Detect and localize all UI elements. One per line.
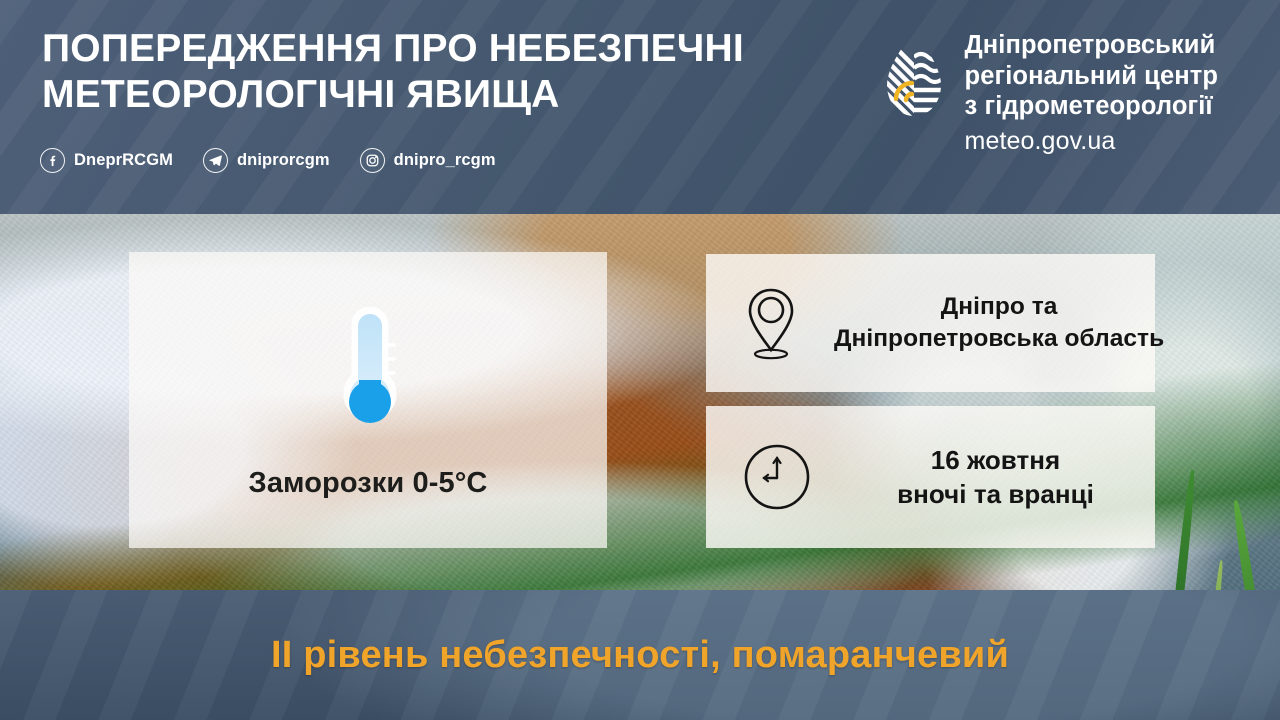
hazard-label: Заморозки 0-5°C <box>249 467 488 500</box>
location-text: Дніпро та Дніпропетровська область <box>834 291 1174 356</box>
water-drop-logo-icon <box>881 30 947 126</box>
datetime-line-1: 16 жовтня <box>846 443 1145 477</box>
social-handle-facebook: DneprRCGM <box>74 151 173 170</box>
social-link-facebook[interactable]: DneprRCGM <box>40 148 173 173</box>
organization-name: Дніпропетровський регіональний центр з г… <box>965 30 1218 157</box>
page-title-line-1: ПОПЕРЕДЖЕННЯ ПРО НЕБЕЗПЕЧНІ <box>42 26 832 72</box>
logo-line-3: з гідрометеорології <box>965 91 1218 122</box>
datetime-text: 16 жовтня вночі та вранці <box>846 443 1155 512</box>
social-link-telegram[interactable]: dniprorcgm <box>203 148 330 173</box>
social-handle-instagram: dnipro_rcgm <box>394 151 496 170</box>
location-card: Дніпро та Дніпропетровська область <box>706 254 1155 392</box>
location-line-1: Дніпро та <box>834 291 1164 323</box>
map-pin-icon <box>742 286 800 360</box>
danger-level-text: II рівень небезпечності, помаранчевий <box>271 634 1009 677</box>
clock-icon <box>742 442 812 512</box>
page-title-line-2: МЕТЕОРОЛОГІЧНІ ЯВИЩА <box>42 72 832 118</box>
logo-line-2: регіональний центр <box>965 61 1218 92</box>
thermometer-icon <box>325 301 411 441</box>
page-title: ПОПЕРЕДЖЕННЯ ПРО НЕБЕЗПЕЧНІ МЕТЕОРОЛОГІЧ… <box>42 26 832 117</box>
organization-logo-block: Дніпропетровський регіональний центр з г… <box>881 30 1218 157</box>
datetime-line-2: вночі та вранці <box>846 477 1145 511</box>
facebook-icon <box>40 148 65 173</box>
hazard-card: Заморозки 0-5°C <box>129 252 607 548</box>
telegram-icon <box>203 148 228 173</box>
header-band: ПОПЕРЕДЖЕННЯ ПРО НЕБЕЗПЕЧНІ МЕТЕОРОЛОГІЧ… <box>0 0 1280 214</box>
datetime-card: 16 жовтня вночі та вранці <box>706 406 1155 548</box>
logo-line-1: Дніпропетровський <box>965 30 1218 61</box>
logo-website: meteo.gov.ua <box>965 125 1218 158</box>
instagram-icon <box>360 148 385 173</box>
social-handle-telegram: dniprorcgm <box>237 151 330 170</box>
social-link-instagram[interactable]: dnipro_rcgm <box>360 148 496 173</box>
location-line-2: Дніпропетровська область <box>834 323 1164 355</box>
footer-band: II рівень небезпечності, помаранчевий <box>0 590 1280 720</box>
weather-warning-poster: ПОПЕРЕДЖЕННЯ ПРО НЕБЕЗПЕЧНІ МЕТЕОРОЛОГІЧ… <box>0 0 1280 720</box>
social-links: DneprRCGM dniprorcgm <box>40 148 496 173</box>
